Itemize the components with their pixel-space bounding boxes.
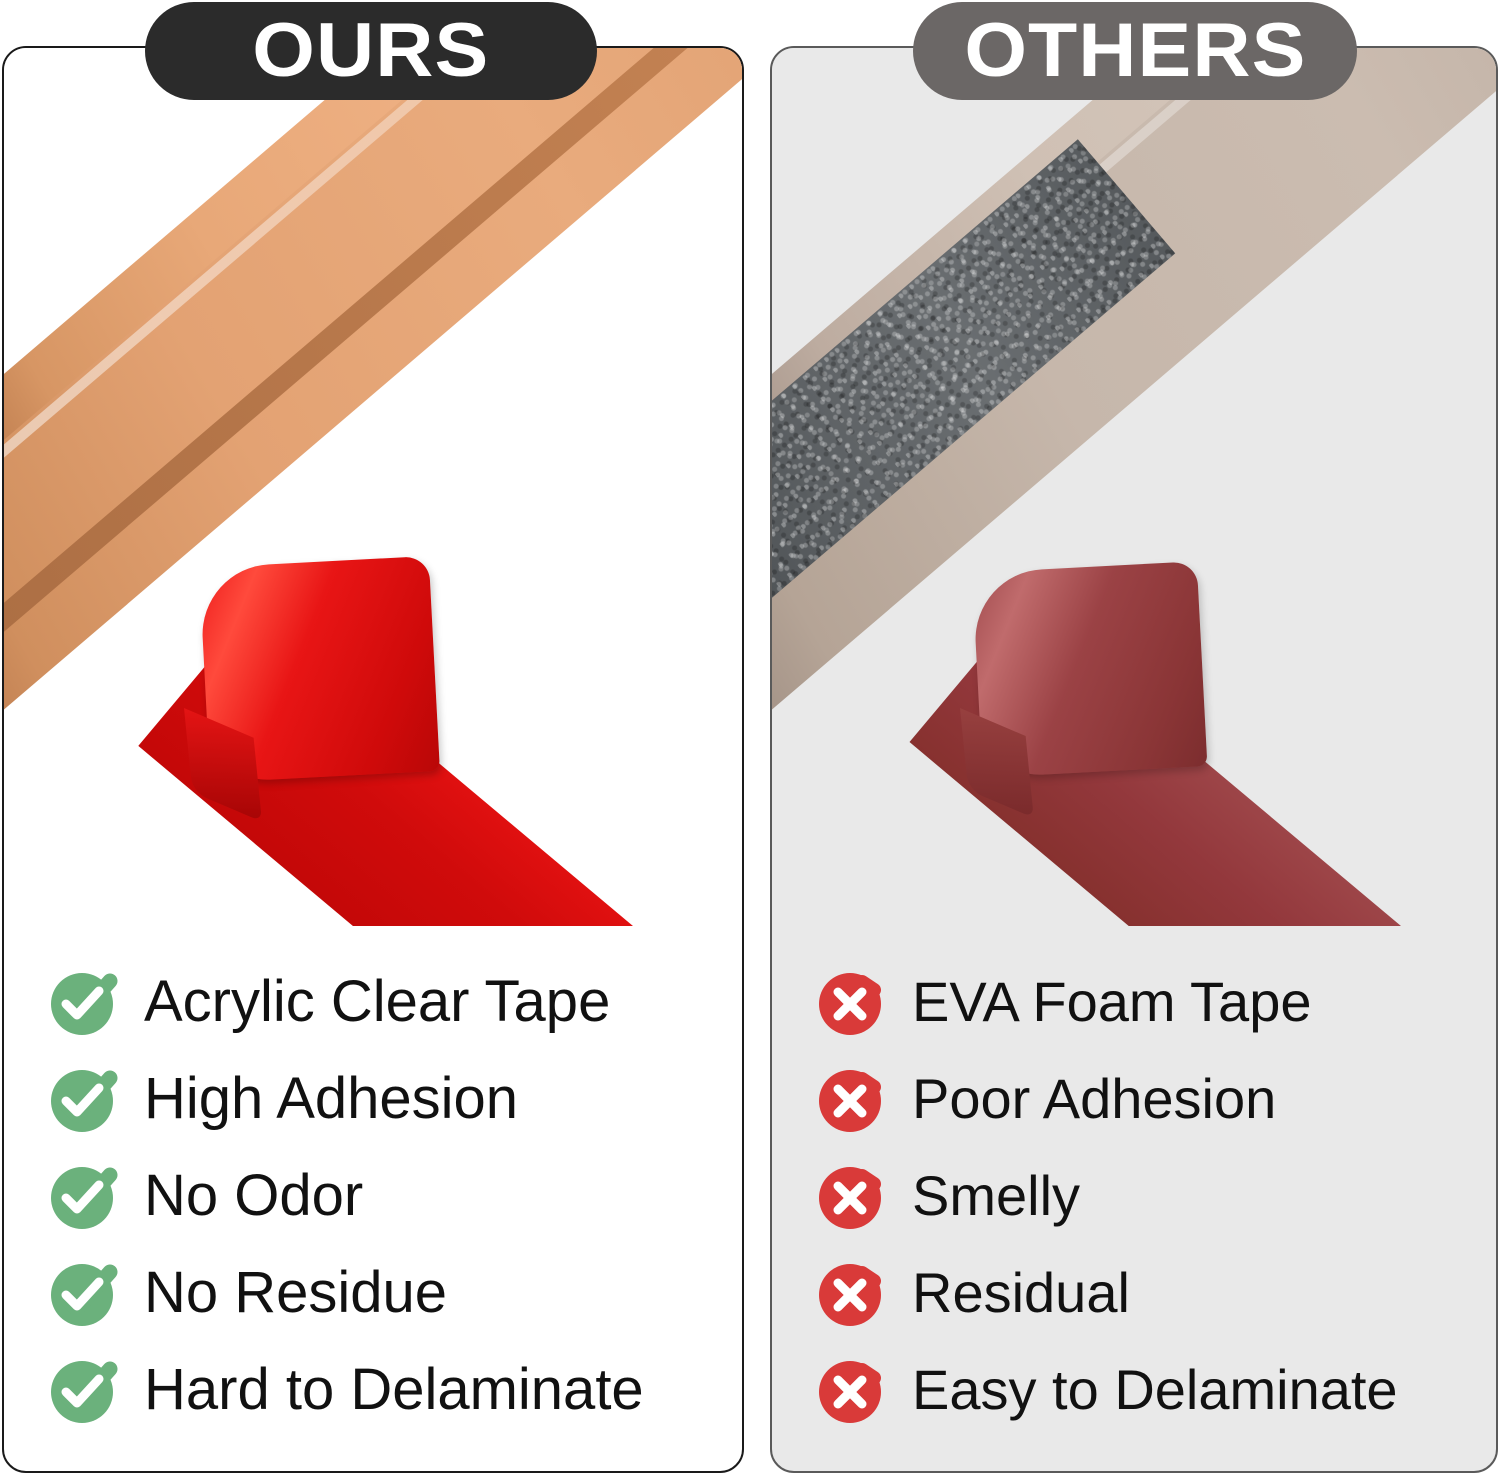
cross-icon: [814, 966, 886, 1038]
feature-row: EVA Foam Tape: [814, 953, 1496, 1050]
feature-label: High Adhesion: [144, 1070, 518, 1128]
feature-label: Easy to Delaminate: [912, 1362, 1398, 1418]
feature-row: Smelly: [814, 1147, 1496, 1244]
check-icon: [46, 1160, 118, 1232]
panel-ours: Acrylic Clear Tape High Adhesion: [2, 46, 744, 1473]
badge-others-label: OTHERS: [964, 13, 1306, 89]
cross-icon: [814, 1063, 886, 1135]
feature-row: Acrylic Clear Tape: [46, 953, 742, 1050]
badge-others: OTHERS: [913, 2, 1357, 100]
badge-ours: OURS: [145, 2, 597, 100]
check-icon: [46, 1257, 118, 1329]
product-photo-ours: [4, 48, 742, 926]
feature-label: Hard to Delaminate: [144, 1361, 644, 1419]
feature-label: Residual: [912, 1265, 1130, 1321]
feature-row: No Odor: [46, 1147, 742, 1244]
product-photo-others-art: [772, 48, 1496, 926]
feature-row: No Residue: [46, 1244, 742, 1341]
feature-label: Acrylic Clear Tape: [144, 973, 610, 1031]
cross-icon: [814, 1160, 886, 1232]
comparison-infographic: Acrylic Clear Tape High Adhesion: [0, 0, 1500, 1480]
product-photo-others: [772, 48, 1496, 926]
check-icon: [46, 966, 118, 1038]
check-icon: [46, 1354, 118, 1426]
feature-row: Easy to Delaminate: [814, 1341, 1496, 1438]
badge-ours-label: OURS: [252, 13, 489, 89]
feature-list-others: EVA Foam Tape Poor Adhesion: [772, 953, 1496, 1471]
feature-list-ours: Acrylic Clear Tape High Adhesion: [4, 953, 742, 1471]
check-icon: [46, 1063, 118, 1135]
feature-row: High Adhesion: [46, 1050, 742, 1147]
feature-row: Hard to Delaminate: [46, 1341, 742, 1438]
panel-others: EVA Foam Tape Poor Adhesion: [770, 46, 1498, 1473]
cross-icon: [814, 1257, 886, 1329]
feature-row: Poor Adhesion: [814, 1050, 1496, 1147]
feature-label: No Residue: [144, 1264, 447, 1322]
feature-row: Residual: [814, 1244, 1496, 1341]
feature-label: EVA Foam Tape: [912, 974, 1312, 1030]
cross-icon: [814, 1354, 886, 1426]
feature-label: No Odor: [144, 1167, 363, 1225]
feature-label: Smelly: [912, 1168, 1080, 1224]
product-photo-ours-art: [4, 48, 742, 926]
feature-label: Poor Adhesion: [912, 1071, 1276, 1127]
